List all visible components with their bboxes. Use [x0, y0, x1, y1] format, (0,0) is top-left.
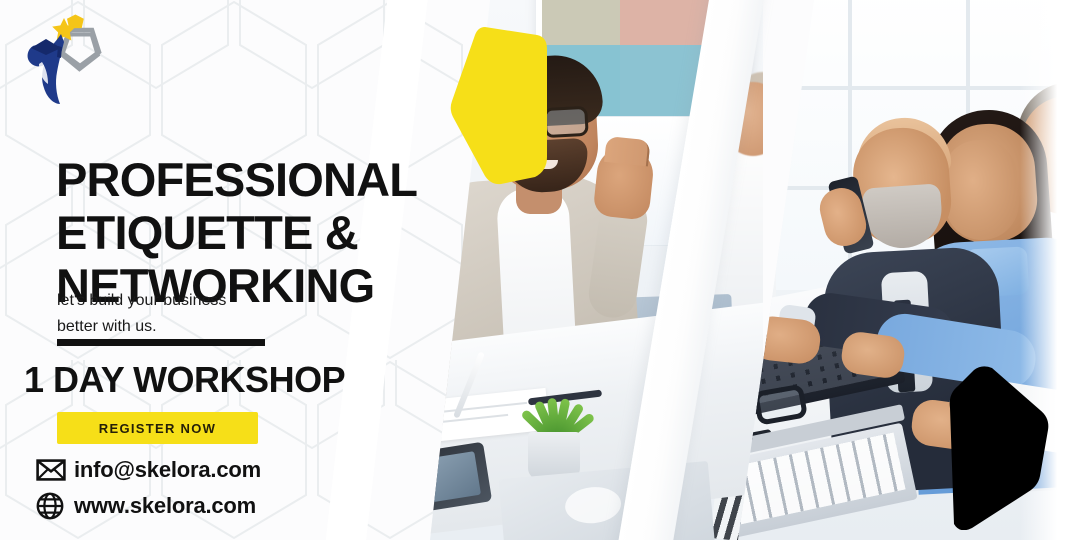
event-banner: PROFESSIONAL ETIQUETTE & NETWORKING let'…: [0, 0, 1080, 540]
contact-website-row[interactable]: www.skelora.com: [36, 488, 366, 524]
contact-block: info@skelora.com www.skelora.com: [36, 452, 366, 524]
contact-email-row[interactable]: info@skelora.com: [36, 452, 366, 488]
headline-line-2: ETIQUETTE &: [56, 206, 476, 259]
headline-line-1: PROFESSIONAL: [56, 153, 476, 206]
tagline: let's build your business better with us…: [57, 288, 337, 340]
contact-website-value: www.skelora.com: [74, 493, 256, 519]
globe-icon: [36, 493, 70, 519]
workshop-label: 1 DAY WORKSHOP: [24, 358, 454, 402]
black-pentagon-shape: [946, 364, 1050, 530]
tagline-line-2: better with us.: [57, 314, 337, 340]
banner-content: PROFESSIONAL ETIQUETTE & NETWORKING let'…: [0, 0, 470, 540]
envelope-icon: [36, 457, 70, 483]
tagline-line-1: let's build your business: [57, 288, 337, 314]
divider-rule: [57, 339, 265, 346]
contact-email-value: info@skelora.com: [74, 457, 261, 483]
register-now-button[interactable]: REGISTER NOW: [57, 412, 258, 444]
graduate-star-logo: [12, 6, 112, 106]
